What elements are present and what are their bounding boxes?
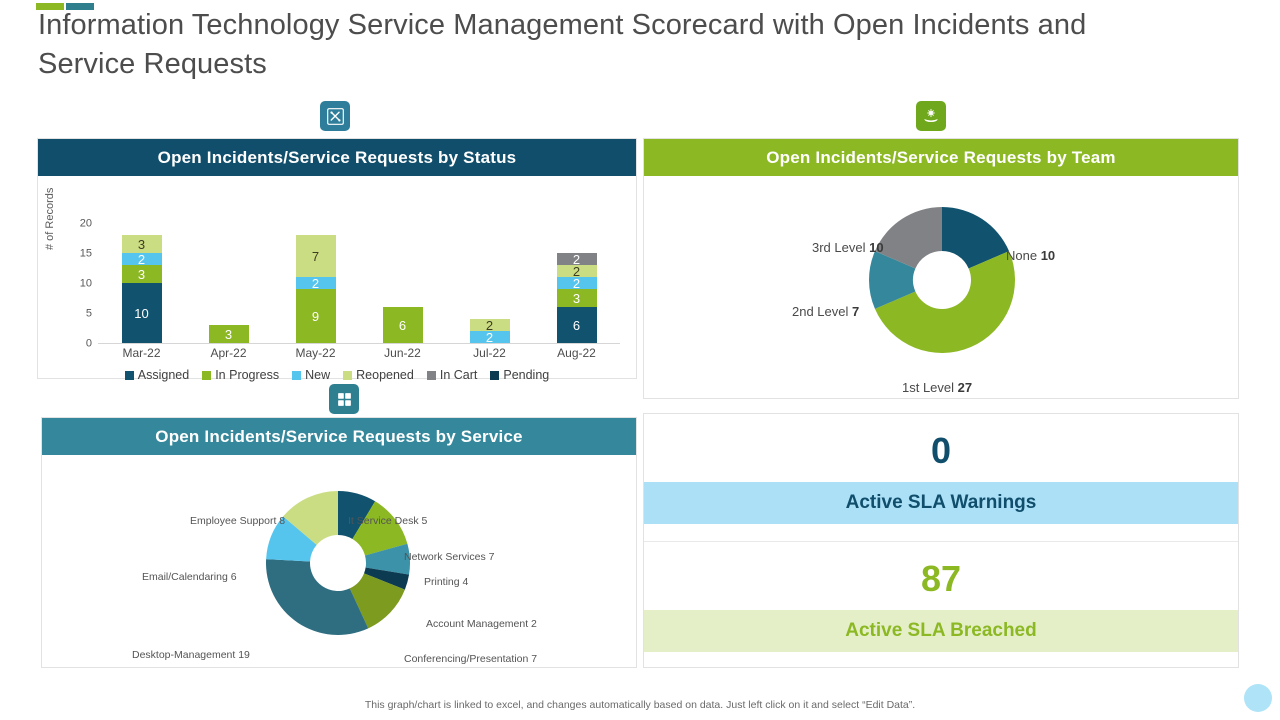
legend-swatch — [490, 371, 499, 380]
legend-label: In Progress — [215, 368, 279, 382]
legend-swatch — [343, 371, 352, 380]
donut-label-value: 7 — [852, 304, 859, 319]
legend-item[interactable]: New — [292, 368, 330, 382]
service-hand-icon — [916, 101, 946, 131]
bar-segment: 7 — [296, 235, 336, 277]
donut-label: Employee Support 8 — [190, 515, 285, 527]
bar-chart[interactable]: # of Records 05101520 32310372962222236 … — [38, 176, 636, 379]
donut-label: It Service Desk 5 — [348, 515, 427, 527]
slide-root: Information Technology Service Managemen… — [0, 0, 1280, 720]
bar-segment: 3 — [122, 235, 162, 253]
bar-column[interactable]: 32310 — [98, 224, 185, 343]
bar-chart-xtick: Apr-22 — [185, 346, 272, 360]
bar-segment: 2 — [557, 277, 597, 289]
page-title: Information Technology Service Managemen… — [38, 6, 1138, 84]
panel-team-chart: Open Incidents/Service Requests by Team … — [643, 138, 1239, 399]
donut-label: None 10 — [1006, 248, 1055, 263]
donut-label: 2nd Level 7 — [792, 304, 859, 319]
sla-warnings-label: Active SLA Warnings — [644, 482, 1238, 524]
sla-warnings-value: 0 — [644, 414, 1238, 472]
bar-segment: 6 — [557, 307, 597, 343]
donut-label-value: 10 — [1041, 248, 1055, 263]
bar-chart-xtick: May-22 — [272, 346, 359, 360]
panel-status-title: Open Incidents/Service Requests by Statu… — [38, 139, 636, 176]
bar-segment: 9 — [296, 289, 336, 343]
legend-item[interactable]: Reopened — [343, 368, 414, 382]
bar-segment: 3 — [122, 265, 162, 283]
panel-service-chart: Open Incidents/Service Requests by Servi… — [41, 417, 637, 668]
donut-label-name: 2nd Level — [792, 304, 852, 319]
bar-chart-legend[interactable]: AssignedIn ProgressNewReopenedIn CartPen… — [38, 368, 636, 382]
team-donut-chart[interactable]: None 101st Level 272nd Level 73rd Level … — [644, 176, 1238, 398]
bar-segment: 2 — [122, 253, 162, 265]
bar-segment: 2 — [470, 331, 510, 343]
bar-chart-ytick: 10 — [80, 279, 92, 290]
bar-segment: 3 — [209, 325, 249, 343]
donut-label: Email/Calendaring 6 — [142, 571, 237, 583]
bar-chart-xtick: Jul-22 — [446, 346, 533, 360]
legend-swatch — [202, 371, 211, 380]
decorative-circle — [1244, 684, 1272, 712]
sla-breached-label: Active SLA Breached — [644, 610, 1238, 652]
sla-breached-value: 87 — [644, 542, 1238, 600]
bar-column[interactable]: 22 — [446, 224, 533, 343]
legend-swatch — [125, 371, 134, 380]
legend-item[interactable]: Pending — [490, 368, 549, 382]
bar-chart-plot: 32310372962222236 — [98, 224, 620, 344]
donut-label-name: 1st Level — [902, 380, 958, 395]
sla-warnings-card: 0 Active SLA Warnings — [644, 414, 1238, 541]
donut-label: Network Services 7 — [404, 551, 494, 563]
donut-label: Desktop-Management 19 — [132, 649, 250, 661]
donut-label-name: None — [1006, 248, 1041, 263]
bar-column[interactable]: 22236 — [533, 224, 620, 343]
bar-column[interactable]: 729 — [272, 224, 359, 343]
sla-metrics-block: 0 Active SLA Warnings 87 Active SLA Brea… — [643, 413, 1239, 668]
bar-segment: 2 — [296, 277, 336, 289]
bar-chart-yaxis: 05101520 — [62, 224, 94, 344]
donut-label: 1st Level 27 — [902, 380, 972, 395]
legend-label: New — [305, 368, 330, 382]
donut-label: 3rd Level 10 — [812, 240, 884, 255]
legend-item[interactable]: In Cart — [427, 368, 478, 382]
legend-label: Pending — [503, 368, 549, 382]
bar-chart-ytick: 20 — [80, 219, 92, 230]
bar-column[interactable]: 3 — [185, 224, 272, 343]
bar-chart-xaxis: Mar-22Apr-22May-22Jun-22Jul-22Aug-22 — [98, 346, 620, 360]
bar-chart-ytick: 0 — [86, 339, 92, 350]
bar-chart-ytick: 5 — [86, 309, 92, 320]
donut-label: Conferencing/Presentation 7 — [404, 653, 537, 665]
panel-status-chart: Open Incidents/Service Requests by Statu… — [37, 138, 637, 379]
legend-label: Reopened — [356, 368, 414, 382]
bar-chart-xtick: Mar-22 — [98, 346, 185, 360]
settings-gear-icon — [329, 384, 359, 414]
legend-label: Assigned — [138, 368, 189, 382]
bar-segment: 6 — [383, 307, 423, 343]
panel-team-title: Open Incidents/Service Requests by Team — [644, 139, 1238, 176]
bar-chart-ytick: 15 — [80, 249, 92, 260]
donut-label-name: 3rd Level — [812, 240, 869, 255]
tools-icon — [320, 101, 350, 131]
bar-column[interactable]: 6 — [359, 224, 446, 343]
legend-swatch — [427, 371, 436, 380]
bar-chart-xtick: Aug-22 — [533, 346, 620, 360]
donut-label: Printing 4 — [424, 576, 468, 588]
legend-item[interactable]: Assigned — [125, 368, 189, 382]
panel-service-title: Open Incidents/Service Requests by Servi… — [42, 418, 636, 455]
service-donut-chart[interactable]: It Service Desk 5Network Services 7Print… — [42, 455, 636, 667]
donut-svg — [42, 455, 638, 667]
legend-item[interactable]: In Progress — [202, 368, 279, 382]
donut-svg — [644, 176, 1240, 398]
donut-label-value: 10 — [869, 240, 883, 255]
footer-note: This graph/chart is linked to excel, and… — [0, 699, 1280, 711]
donut-label-value: 27 — [958, 380, 972, 395]
bar-chart-xtick: Jun-22 — [359, 346, 446, 360]
bar-segment: 10 — [122, 283, 162, 343]
legend-label: In Cart — [440, 368, 478, 382]
bar-segment: 3 — [557, 289, 597, 307]
donut-slice[interactable] — [266, 559, 368, 635]
legend-swatch — [292, 371, 301, 380]
sla-breached-card: 87 Active SLA Breached — [644, 541, 1238, 668]
bar-chart-ylabel: # of Records — [44, 188, 56, 250]
donut-label: Account Management 2 — [426, 618, 537, 630]
